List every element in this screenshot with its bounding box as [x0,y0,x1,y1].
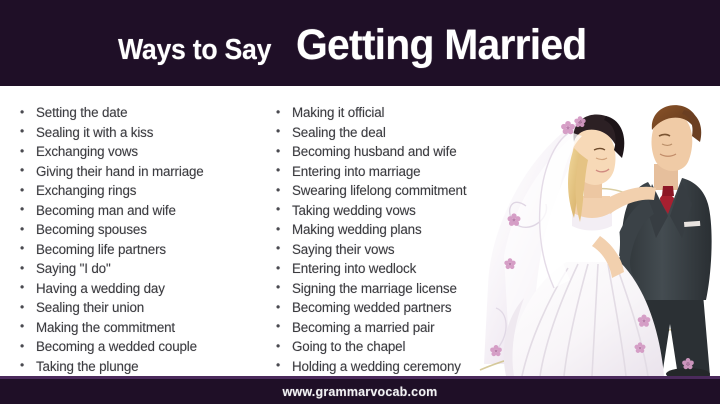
infographic-poster: Ways to Say Getting Married [0,0,720,404]
list-item: Taking the plunge [18,357,266,377]
right-term-list: Making it official Sealing the deal Beco… [274,86,544,376]
list-item: Becoming spouses [18,220,266,240]
list-item: Taking wedding vows [274,201,544,221]
list-item: Making wedding plans [274,220,544,240]
list-item: Saying their vows [274,240,544,260]
site-url[interactable]: www.grammarvocab.com [283,385,438,399]
list-item: Sealing it with a kiss [18,123,266,143]
list-item: Becoming life partners [18,240,266,260]
list-item: Swearing lifelong commitment [274,181,544,201]
list-item: Sealing their union [18,298,266,318]
list-item: Becoming a wedded couple [18,337,266,357]
list-item: Exchanging rings [18,181,266,201]
header-banner: Ways to Say Getting Married [0,0,720,86]
term-columns: Setting the date Sealing it with a kiss … [0,86,720,376]
right-column: Making it official Sealing the deal Beco… [274,86,544,376]
list-item: Going to the chapel [274,337,544,357]
list-item: Having a wedding day [18,279,266,299]
list-item: Making the commitment [18,318,266,338]
list-item: Becoming a married pair [274,318,544,338]
title-main: Getting Married [296,21,586,70]
list-item: Entering into wedlock [274,259,544,279]
list-item: Sealing the deal [274,123,544,143]
list-item: Setting the date [18,103,266,123]
title-prefix: Ways to Say [118,34,271,67]
list-item: Signing the marriage license [274,279,544,299]
list-item: Entering into marriage [274,162,544,182]
list-item: Holding a wedding ceremony [274,357,544,377]
list-item: Giving their hand in marriage [18,162,266,182]
left-column: Setting the date Sealing it with a kiss … [18,86,266,376]
footer-bar: www.grammarvocab.com [0,379,720,404]
list-item: Becoming man and wife [18,201,266,221]
body-area: Setting the date Sealing it with a kiss … [0,86,720,376]
left-term-list: Setting the date Sealing it with a kiss … [18,86,266,376]
list-item: Exchanging vows [18,142,266,162]
page-title: Ways to Say Getting Married [118,21,602,70]
list-item: Making it official [274,103,544,123]
list-item: Saying "I do" [18,259,266,279]
list-item: Becoming wedded partners [274,298,544,318]
list-item: Becoming husband and wife [274,142,544,162]
